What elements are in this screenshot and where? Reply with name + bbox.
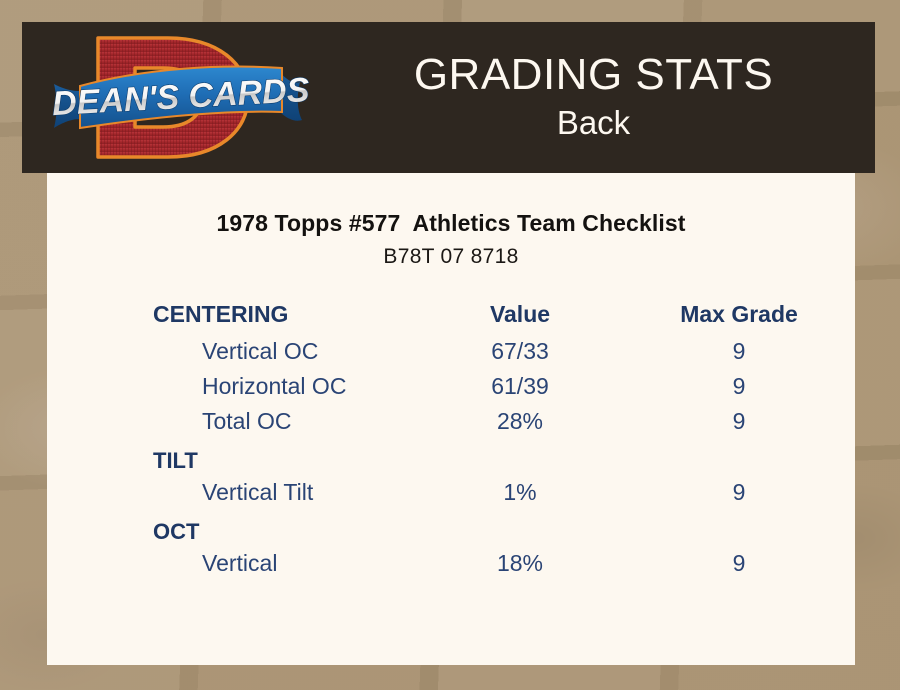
section-header-label: TILT <box>47 439 855 475</box>
section-header-row: OCT <box>47 510 855 546</box>
header-bar: DEAN'S CARDS GRADING STATS Back <box>22 22 875 173</box>
card-code: B78T 07 8718 <box>47 245 855 269</box>
table-row: Vertical Tilt1%9 <box>47 475 855 510</box>
logo-ribbon: DEAN'S CARDS <box>51 67 310 128</box>
section-header-label: OCT <box>47 510 855 546</box>
table-row: Total OC28%9 <box>47 404 855 439</box>
deans-cards-logo: DEAN'S CARDS <box>50 24 312 171</box>
stat-value: 28% <box>417 404 623 439</box>
column-header-category: CENTERING <box>47 301 417 334</box>
stat-value: 1% <box>417 475 623 510</box>
stat-max-grade: 9 <box>623 404 855 439</box>
section-header-row: TILT <box>47 439 855 475</box>
stat-max-grade: 9 <box>623 475 855 510</box>
card-title: 1978 Topps #577 Athletics Team Checklist <box>47 210 855 237</box>
stat-label: Vertical OC <box>47 334 417 369</box>
stat-label: Horizontal OC <box>47 369 417 404</box>
stat-label: Total OC <box>47 404 417 439</box>
stat-max-grade: 9 <box>623 369 855 404</box>
table-row: Vertical OC67/339 <box>47 334 855 369</box>
stat-max-grade: 9 <box>623 334 855 369</box>
column-header-value: Value <box>417 301 623 334</box>
table-row: Horizontal OC61/399 <box>47 369 855 404</box>
stat-label: Vertical Tilt <box>47 475 417 510</box>
stat-value: 67/33 <box>417 334 623 369</box>
logo-banner-text: DEAN'S CARDS <box>51 71 310 123</box>
content-panel: 1978 Topps #577 Athletics Team Checklist… <box>47 173 855 665</box>
header-title-group: GRADING STATS Back <box>312 22 875 173</box>
table-body: Vertical OC67/339Horizontal OC61/399Tota… <box>47 334 855 581</box>
table-row: Vertical18%9 <box>47 546 855 581</box>
stat-max-grade: 9 <box>623 546 855 581</box>
stat-label: Vertical <box>47 546 417 581</box>
stat-value: 61/39 <box>417 369 623 404</box>
grading-stats-table: CENTERING Value Max Grade Vertical OC67/… <box>47 301 855 581</box>
stat-value: 18% <box>417 546 623 581</box>
page-subtitle: Back <box>557 103 630 143</box>
column-header-max-grade: Max Grade <box>623 301 855 334</box>
page-title: GRADING STATS <box>414 52 773 99</box>
table-header-row: CENTERING Value Max Grade <box>47 301 855 334</box>
